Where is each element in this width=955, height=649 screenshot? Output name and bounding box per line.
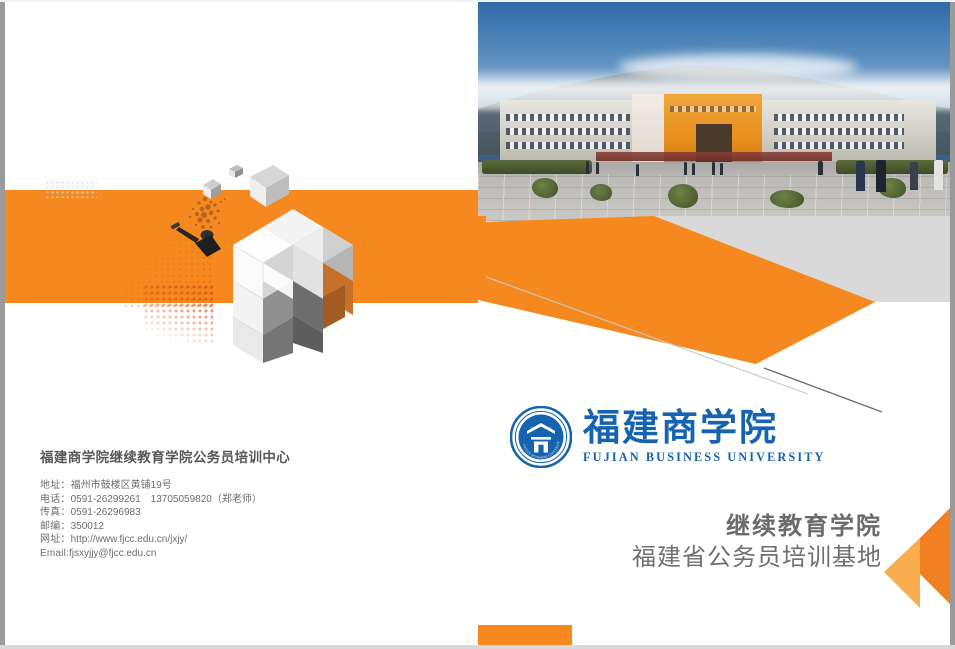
contact-label: 传真：	[40, 507, 71, 518]
contact-label: Email:	[40, 548, 69, 559]
contact-line-phone: 电话：0591-26299261 13705059820（郑老师）	[40, 493, 440, 507]
campus-photo	[478, 2, 950, 221]
floating-cube-small	[203, 179, 221, 199]
bottom-orange-tab	[478, 625, 572, 645]
contact-label: 邮编：	[40, 521, 71, 532]
university-emblem-icon: FUJIAN BUSINESS UNIVERSITY	[510, 406, 572, 468]
page-edge-right	[950, 0, 955, 649]
photo-hedge	[482, 160, 592, 174]
photo-shrub	[770, 190, 804, 208]
photo-person	[712, 162, 715, 175]
photo-person	[876, 160, 886, 192]
brochure-page: 福建商学院继续教育学院公务员培训中心 地址：福州市鼓楼区黄铺19号 电话：059…	[0, 0, 955, 649]
orange-edge-sliver	[478, 216, 486, 292]
chevron-front	[884, 538, 920, 608]
worker-figure	[171, 222, 221, 257]
cube-stack	[233, 209, 353, 363]
floating-cube-tiny	[229, 165, 243, 178]
photo-person	[692, 163, 695, 175]
photo-shrub	[590, 184, 612, 201]
floating-cube-large	[250, 165, 289, 207]
photo-person	[636, 164, 639, 176]
photo-person	[586, 161, 589, 174]
contact-line-address: 地址：福州市鼓楼区黄铺19号	[40, 479, 440, 493]
photo-person	[720, 163, 723, 175]
contact-label: 网址：	[40, 534, 71, 545]
cover-title-primary: 继续教育学院	[120, 512, 882, 542]
university-name-cn: 福建商学院	[583, 406, 778, 449]
photo-person	[818, 161, 823, 175]
photo-shrub	[532, 178, 558, 198]
page-edge-top	[0, 0, 955, 2]
contact-value: 福州市鼓楼区黄铺19号	[71, 480, 172, 491]
photo-person	[596, 162, 599, 174]
photo-windows	[506, 114, 630, 121]
university-logo-text: 福建商学院 FUJIAN BUSINESS UNIVERSITY	[583, 408, 950, 466]
photo-person	[856, 161, 865, 191]
contact-label: 地址：	[40, 480, 71, 491]
page-edge-left	[0, 0, 5, 649]
university-logo: FUJIAN BUSINESS UNIVERSITY 福建商学院 FUJIAN …	[510, 406, 950, 468]
photo-windows	[506, 142, 630, 149]
cube-illustration	[155, 157, 370, 367]
photo-hedge	[836, 160, 948, 174]
university-name-en: FUJIAN BUSINESS UNIVERSITY	[583, 450, 826, 464]
cover-title-secondary: 福建省公务员培训基地	[120, 542, 882, 574]
photo-windows	[670, 106, 756, 112]
organization-name: 福建商学院继续教育学院公务员培训中心	[40, 446, 440, 466]
photo-person	[910, 162, 918, 190]
photo-windows	[774, 128, 904, 135]
double-chevron-left-icon	[876, 500, 950, 612]
photo-shrub	[668, 184, 698, 208]
photo-windows	[506, 128, 630, 135]
cover-title-block: 继续教育学院 福建省公务员培训基地	[120, 512, 882, 574]
photo-windows	[774, 114, 904, 121]
debris-particles	[189, 197, 226, 229]
contact-label: 电话：	[40, 494, 71, 505]
photo-person	[684, 162, 687, 175]
page-edge-bottom	[0, 645, 955, 649]
photo-terrace	[596, 152, 832, 161]
photo-windows	[774, 142, 904, 149]
photo-person	[934, 160, 943, 190]
contact-value: 350012	[71, 521, 104, 532]
contact-value: 0591-26299261 13705059820（郑老师）	[71, 494, 262, 505]
